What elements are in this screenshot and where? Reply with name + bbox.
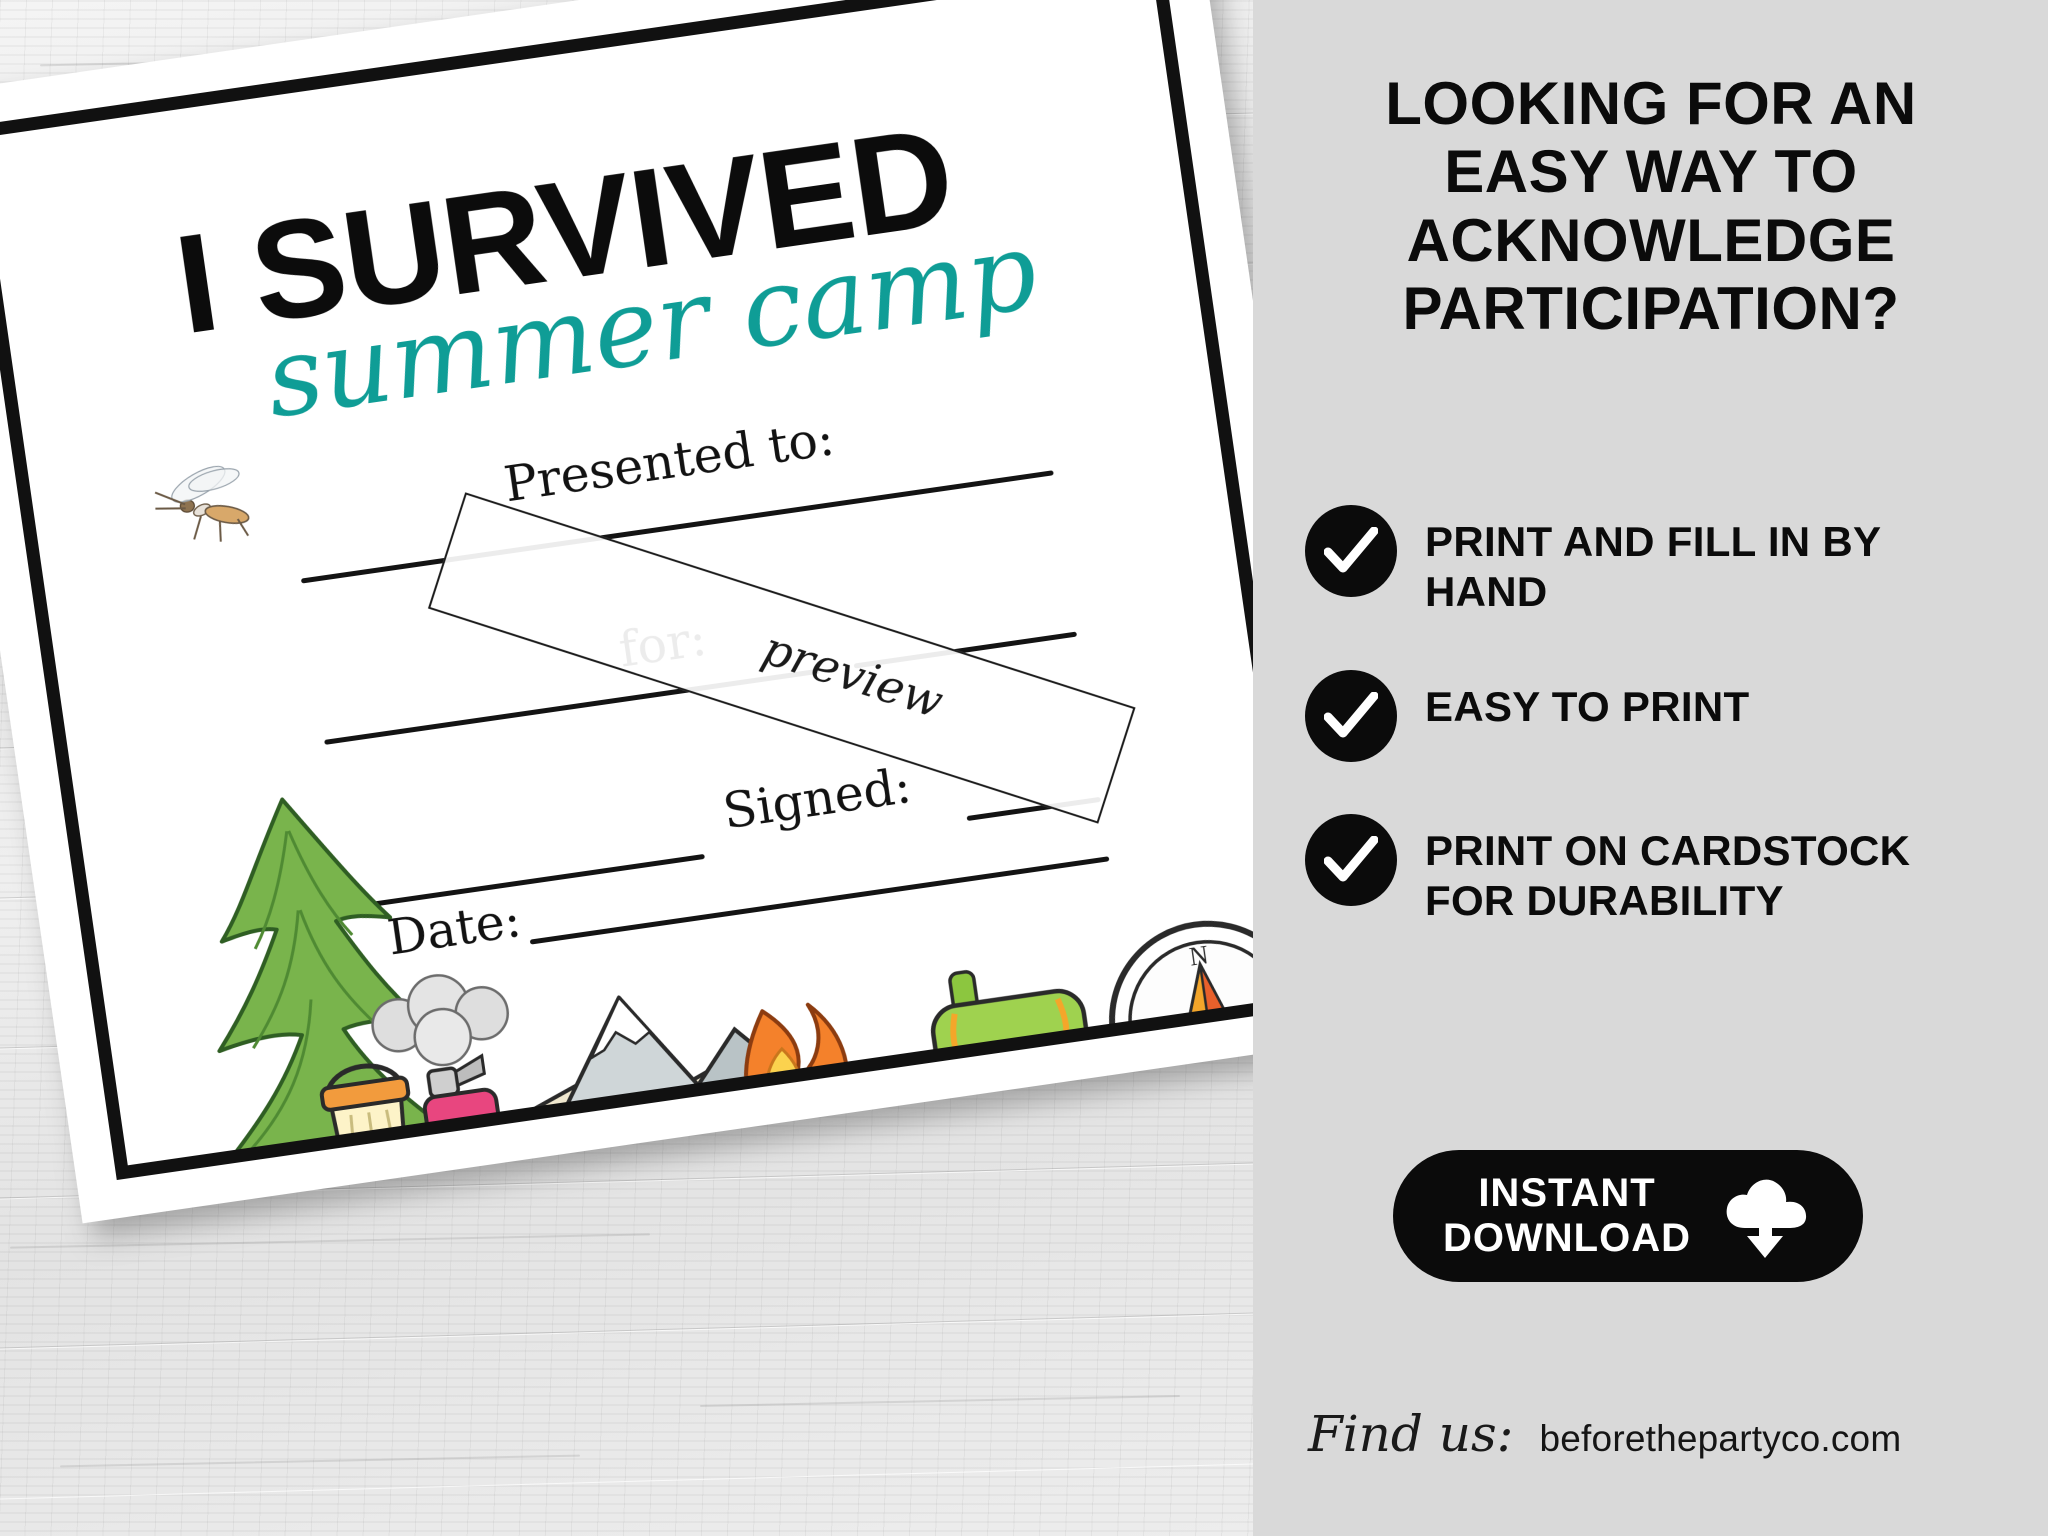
mosquito-icon <box>131 431 275 558</box>
label-presented-to: Presented to: <box>501 409 838 513</box>
benefit-item: PRINT ON CARDSTOCK FOR DURABILITY <box>1305 814 2005 927</box>
instant-download-button[interactable]: INSTANT DOWNLOAD <box>1393 1150 1863 1282</box>
instant-download-label: INSTANT DOWNLOAD <box>1443 1171 1691 1261</box>
download-line-1: INSTANT <box>1478 1171 1655 1215</box>
download-line-2: DOWNLOAD <box>1443 1216 1691 1260</box>
find-us-label: Find us: <box>1308 1405 1514 1463</box>
svg-text:W: W <box>1135 1014 1164 1046</box>
preview-watermark-text: preview <box>756 620 950 728</box>
shop-url: beforethepartyco.com <box>1540 1418 1902 1460</box>
benefit-label: EASY TO PRINT <box>1425 670 2005 732</box>
benefit-label: PRINT AND FILL IN BY HAND <box>1425 505 2005 618</box>
cloud-download-icon <box>1717 1168 1813 1264</box>
check-icon <box>1305 505 1397 597</box>
benefit-item: EASY TO PRINT <box>1305 670 2005 762</box>
bug-spray-icon: BUZZ OFF! <box>418 1055 510 1180</box>
check-icon <box>1305 814 1397 906</box>
footer-find-us: Find us: beforethepartyco.com <box>1308 1405 1901 1463</box>
benefit-label: PRINT ON CARDSTOCK FOR DURABILITY <box>1425 814 2005 927</box>
certificate-border: I SURVIVED summer camp Presented to: <box>0 0 1314 1180</box>
benefit-item: PRINT AND FILL IN BY HAND <box>1305 505 2005 618</box>
label-signed: Signed: <box>719 757 914 840</box>
listing-image: I SURVIVED summer camp Presented to: <box>0 0 2048 1536</box>
lantern-icon <box>319 1060 425 1180</box>
certificate-preview: I SURVIVED summer camp Presented to: <box>0 0 1359 1223</box>
panel-headline: LOOKING FOR AN EASY WAY TO ACKNOWLEDGE P… <box>1295 70 2007 344</box>
benefits-list: PRINT AND FILL IN BY HAND EASY TO PRINT … <box>1305 505 2005 979</box>
smoke-icon <box>367 966 514 1074</box>
info-panel: LOOKING FOR AN EASY WAY TO ACKNOWLEDGE P… <box>1253 0 2048 1536</box>
check-icon <box>1305 670 1397 762</box>
